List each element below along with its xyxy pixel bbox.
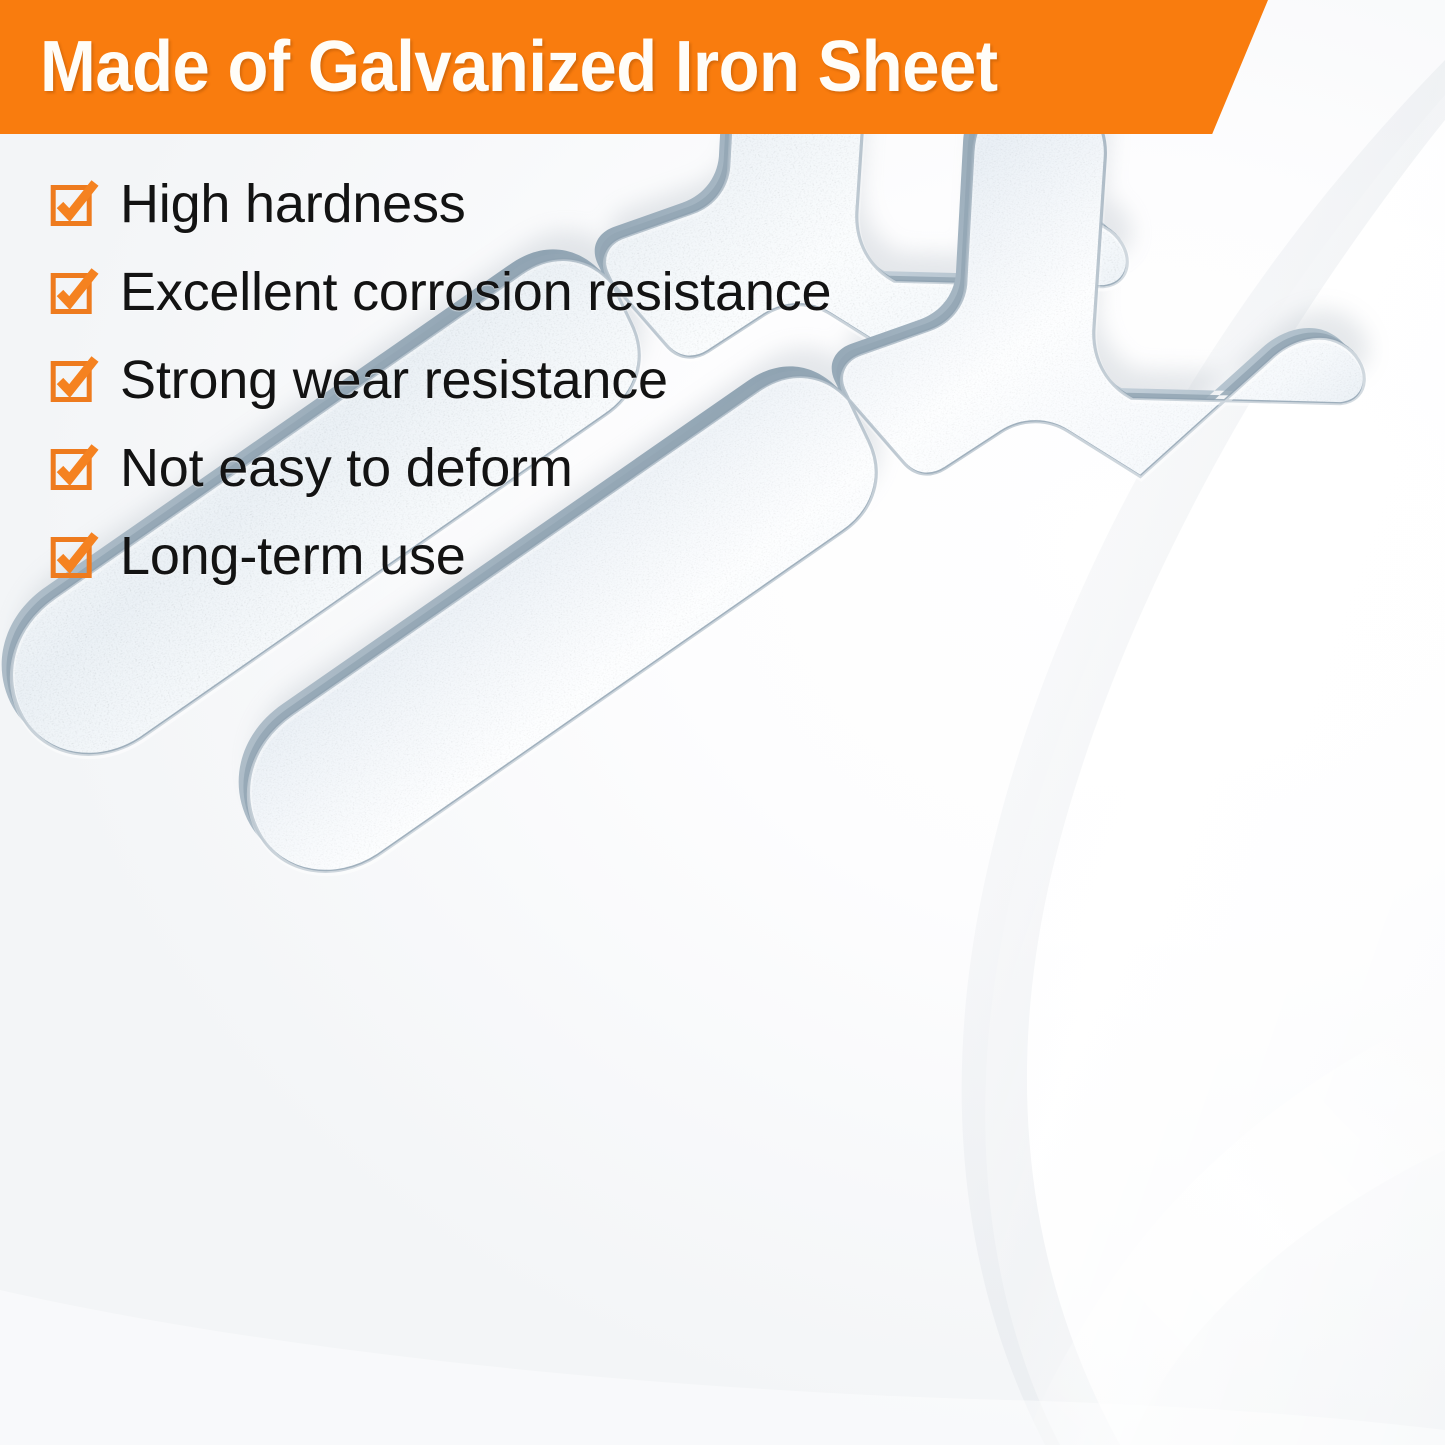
header-banner: Made of Galvanized Iron Sheet — [0, 0, 1268, 134]
feature-label: Excellent corrosion resistance — [120, 264, 831, 320]
page-title: Made of Galvanized Iron Sheet — [40, 17, 1137, 117]
feature-label: High hardness — [120, 176, 466, 232]
product-feature-image: Made of Galvanized Iron Sheet High hardn… — [0, 0, 1445, 1445]
feature-list: High hardness Excellent corrosion resist… — [50, 160, 831, 600]
feature-item-corrosion-resistance: Excellent corrosion resistance — [50, 248, 831, 336]
feature-item-high-hardness: High hardness — [50, 160, 831, 248]
feature-label: Not easy to deform — [120, 440, 573, 496]
checkbox-checked-icon — [50, 269, 96, 315]
feature-item-not-easy-to-deform: Not easy to deform — [50, 424, 831, 512]
checkbox-checked-icon — [50, 181, 96, 227]
feature-label: Strong wear resistance — [120, 352, 668, 408]
checkbox-checked-icon — [50, 533, 96, 579]
checkbox-checked-icon — [50, 357, 96, 403]
feature-item-long-term-use: Long-term use — [50, 512, 831, 600]
feature-label: Long-term use — [120, 528, 466, 584]
checkbox-checked-icon — [50, 445, 96, 491]
feature-item-wear-resistance: Strong wear resistance — [50, 336, 831, 424]
